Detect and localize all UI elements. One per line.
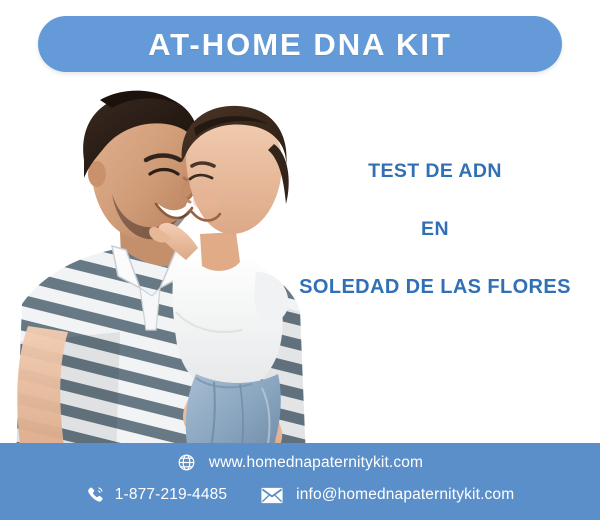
footer-item-email[interactable]: info@homednapaternitykit.com — [261, 487, 514, 504]
globe-icon — [177, 453, 196, 472]
footer-website-text: www.homednapaternitykit.com — [209, 455, 423, 471]
footer-email-text: info@homednapaternitykit.com — [296, 487, 514, 503]
headline-block: TEST DE ADN EN SOLEDAD DE LAS FLORES — [276, 162, 594, 297]
footer-item-phone[interactable]: 1-877-219-4485 — [86, 485, 227, 505]
hero-photo-image — [0, 82, 312, 460]
footer-phone-text: 1-877-219-4485 — [115, 487, 227, 503]
footer-website-row: www.homednapaternitykit.com — [0, 453, 600, 472]
title-banner: AT-HOME DNA KIT — [38, 16, 562, 72]
phone-icon — [86, 485, 106, 505]
poster-canvas: AT-HOME DNA KIT — [0, 0, 600, 520]
banner-title: AT-HOME DNA KIT — [148, 29, 452, 60]
contact-footer: www.homednapaternitykit.com 1-877-219-44… — [0, 443, 600, 520]
footer-item-website[interactable]: www.homednapaternitykit.com — [177, 453, 423, 472]
hero-photo — [0, 82, 312, 460]
headline-line-service: TEST DE ADN — [276, 162, 594, 182]
footer-contact-row: 1-877-219-4485 info@homednapaternitykit.… — [0, 485, 600, 505]
headline-line-preposition: EN — [276, 220, 594, 240]
envelope-icon — [261, 487, 283, 504]
headline-line-location: SOLEDAD DE LAS FLORES — [276, 277, 594, 297]
